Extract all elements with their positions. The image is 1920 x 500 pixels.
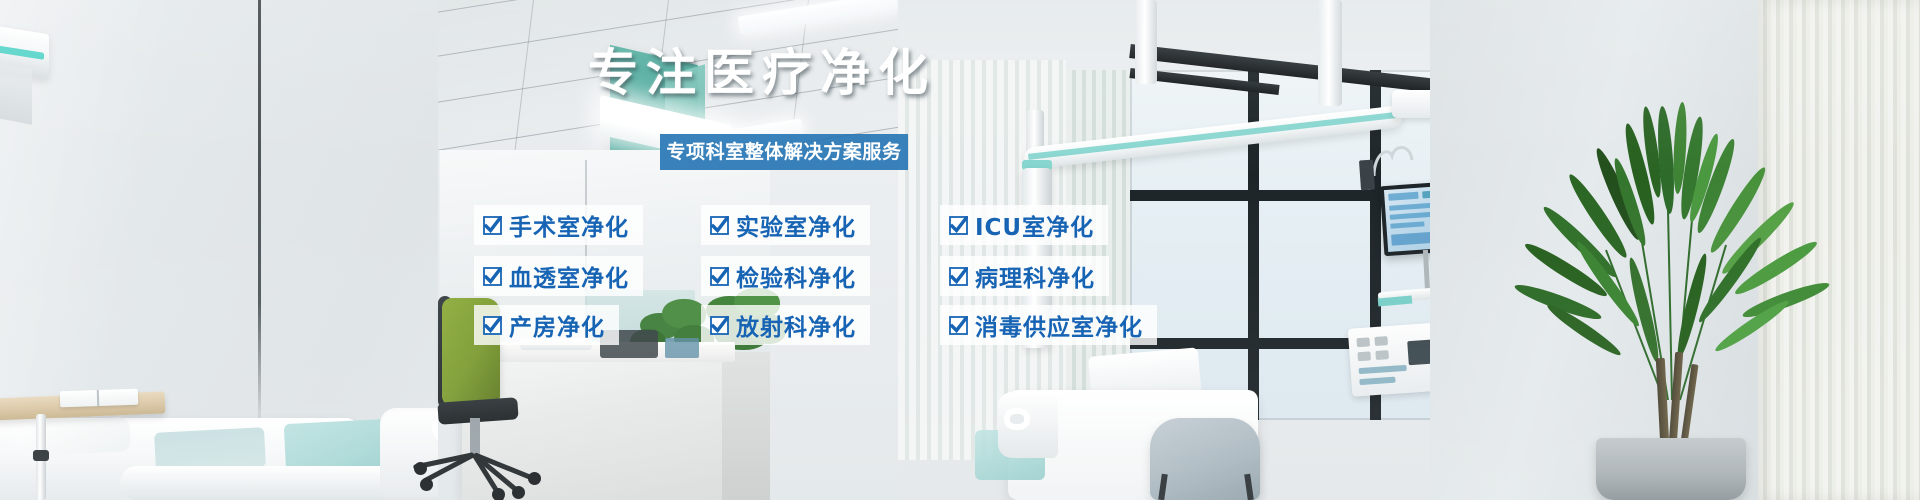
feature-item-radiology[interactable]: 放射科净化: [701, 305, 870, 345]
feature-label: 病理科净化: [975, 259, 1095, 293]
feature-label: ICU室净化: [975, 208, 1094, 242]
checkbox-checked-icon[interactable]: [710, 216, 729, 235]
checkbox-checked-icon[interactable]: [483, 267, 502, 286]
feature-item-delivery-room[interactable]: 产房净化: [474, 305, 619, 345]
feature-item-cssd[interactable]: 消毒供应室净化: [940, 305, 1157, 345]
feature-label: 血透室净化: [509, 259, 629, 293]
feature-list: 手术室净化 实验室净化 ICU室净化: [0, 0, 1920, 500]
checkbox-checked-icon[interactable]: [949, 267, 968, 286]
feature-item-clinical-lab[interactable]: 检验科净化: [701, 256, 870, 296]
feature-label: 产房净化: [509, 308, 605, 342]
feature-label: 实验室净化: [736, 208, 856, 242]
feature-item-pathology[interactable]: 病理科净化: [940, 256, 1109, 296]
checkbox-checked-icon[interactable]: [483, 216, 502, 235]
feature-label: 消毒供应室净化: [975, 308, 1143, 342]
checkbox-checked-icon[interactable]: [949, 316, 968, 335]
feature-label: 手术室净化: [509, 208, 629, 242]
feature-item-icu[interactable]: ICU室净化: [940, 205, 1108, 245]
feature-label: 放射科净化: [736, 308, 856, 342]
feature-label: 检验科净化: [736, 259, 856, 293]
checkbox-checked-icon[interactable]: [710, 316, 729, 335]
feature-item-hemodialysis[interactable]: 血透室净化: [474, 256, 643, 296]
checkbox-checked-icon[interactable]: [483, 316, 502, 335]
feature-item-laboratory[interactable]: 实验室净化: [701, 205, 870, 245]
feature-item-operating-room[interactable]: 手术室净化: [474, 205, 643, 245]
medical-purification-banner: 专注医疗净化 专项科室整体解决方案服务 手术室净化 实验室净化: [0, 0, 1920, 500]
checkbox-checked-icon[interactable]: [949, 216, 968, 235]
checkbox-checked-icon[interactable]: [710, 267, 729, 286]
